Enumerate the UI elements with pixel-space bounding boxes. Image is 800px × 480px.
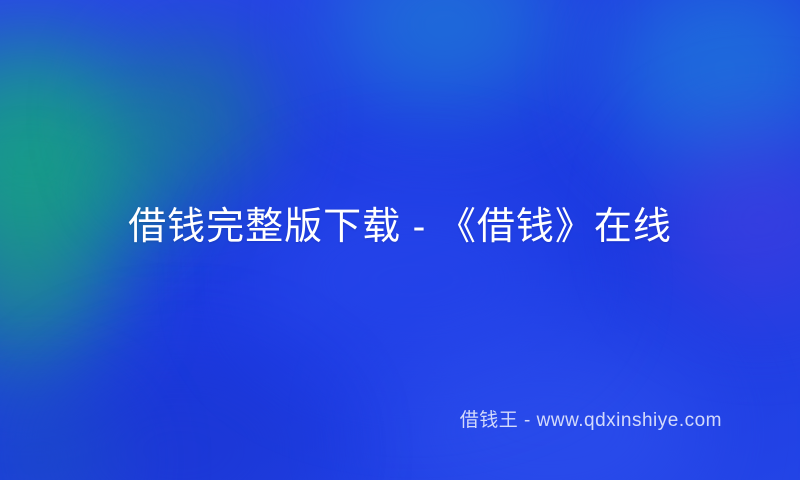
promo-banner: 借钱完整版下载 - 《借钱》在线 借钱王 - www.qdxinshiye.co… bbox=[0, 0, 800, 480]
site-watermark: 借钱王 - www.qdxinshiye.com bbox=[460, 405, 722, 432]
banner-headline: 借钱完整版下载 - 《借钱》在线 bbox=[0, 204, 800, 252]
